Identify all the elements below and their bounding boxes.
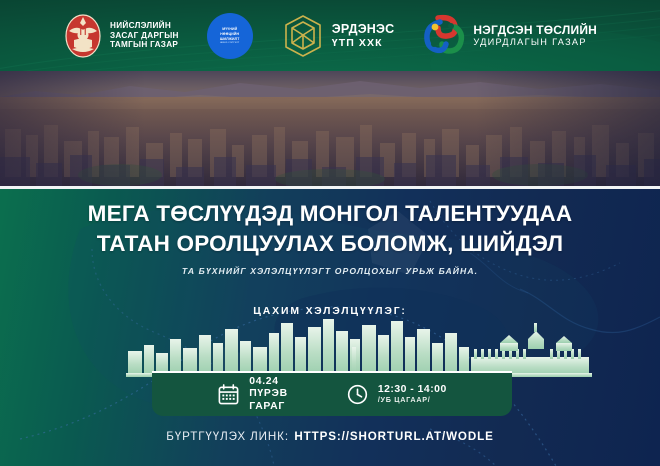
logo-erdenes-text: ЭРДЭНЭС ҮТП ХХК — [332, 22, 395, 49]
logo-unified-text: НЭГДСЭН ТӨСЛИЙН УДИРДЛАГЫН ГАЗАР — [473, 23, 597, 48]
blue-circle-badge-icon: МҮҮНИЙ НӨӨЦИЙН ШИЛЖИЛТ ШИНЭ СЭРГЭЛТ — [207, 13, 253, 59]
badge-sublabel: ШИНЭ СЭРГЭЛТ — [220, 42, 239, 44]
logo1-line2: ЗАСАГ ДАРГЫН — [110, 31, 179, 41]
logo4-line2: УДИРДЛАГЫН ГАЗАР — [473, 37, 597, 48]
badge-line1: МҮҮНИЙ — [222, 27, 237, 31]
title-line-1: МЕГА ТӨСЛҮҮДЭД МОНГОЛ ТАЛЕНТУУДАА — [0, 199, 660, 229]
event-time-text: 12:30 - 14:00 /УБ ЦАГААР/ — [378, 384, 447, 405]
logo3-line1: ЭРДЭНЭС — [332, 22, 395, 37]
logo-capital-city-governor: НИЙСЛЭЛИЙН ЗАСАГ ДАРГЫН ТАМГЫН ГАЗАР — [63, 13, 179, 59]
clock-icon — [346, 383, 369, 406]
unified-project-nodes-icon — [422, 14, 466, 58]
badge-line3: ШИЛЖИЛТ — [220, 37, 240, 41]
logo1-line3: ТАМГЫН ГАЗАР — [110, 40, 179, 50]
logo-unified-project-management: НЭГДСЭН ТӨСЛИЙН УДИРДЛАГЫН ГАЗАР — [422, 14, 597, 58]
logo1-line1: НИЙСЛЭЛИЙН — [110, 21, 179, 31]
calendar-icon — [217, 383, 240, 406]
logo4-line1: НЭГДСЭН ТӨСЛИЙН — [473, 23, 597, 37]
logo3-line2: ҮТП ХХК — [332, 37, 395, 49]
logo-row: НИЙСЛЭЛИЙН ЗАСАГ ДАРГЫН ТАМГЫН ГАЗАР МҮҮ… — [0, 0, 660, 71]
event-date-text: 04.24 ПҮРЭВ ГАРАГ — [249, 376, 288, 413]
event-date-number: 04.24 — [249, 376, 288, 388]
photo-vignette — [0, 71, 660, 188]
registration-link-row[interactable]: БҮРТГҮҮЛЭХ ЛИНК: HTTPS://SHORTURL.AT/WOD… — [0, 427, 660, 445]
event-info-bar: 04.24 ПҮРЭВ ГАРАГ 12:30 - 14:00 /УБ ЦАГА… — [152, 371, 512, 416]
title-line-2: ТАТАН ОРОЛЦУУЛАХ БОЛОМЖ, ШИЙДЭЛ — [0, 229, 660, 259]
logo-header-bar: НИЙСЛЭЛИЙН ЗАСАГ ДАРГЫН ТАМГЫН ГАЗАР МҮҮ… — [0, 0, 660, 71]
erdenes-crystal-icon — [281, 13, 325, 59]
logo-new-recovery-badge: МҮҮНИЙ НӨӨЦИЙН ШИЛЖИЛТ ШИНЭ СЭРГЭЛТ — [207, 13, 253, 59]
subtitle: ТА БҮХНИЙГ ХЭЛЭЛЦҮҮЛЭГТ ОРОЛЦОХЫГ УРЬЖ Б… — [0, 266, 660, 276]
mongolia-soyombo-emblem-icon — [63, 13, 103, 59]
event-time-zone: /УБ ЦАГААР/ — [378, 396, 447, 404]
ulaanbaatar-skyline-silhouette — [0, 317, 660, 377]
poster-root: НИЙСЛЭЛИЙН ЗАСАГ ДАРГЫН ТАМГЫН ГАЗАР МҮҮ… — [0, 0, 660, 466]
registration-link-label: БҮРТГҮҮЛЭХ ЛИНК: — [166, 430, 289, 443]
kicker-label: ЦАХИМ ХЭЛЭЛЦҮҮЛЭГ: — [0, 306, 660, 317]
registration-link-url[interactable]: HTTPS://SHORTURL.AT/WODLE — [294, 430, 493, 443]
cityscape-photo — [0, 71, 660, 188]
logo-capital-city-governor-text: НИЙСЛЭЛИЙН ЗАСАГ ДАРГЫН ТАМГЫН ГАЗАР — [110, 21, 179, 50]
event-day-line2: ГАРАГ — [249, 401, 288, 413]
event-time-item: 12:30 - 14:00 /УБ ЦАГААР/ — [346, 383, 447, 406]
title-block: МЕГА ТӨСЛҮҮДЭД МОНГОЛ ТАЛЕНТУУДАА ТАТАН … — [0, 199, 660, 276]
logo-erdenes-utp: ЭРДЭНЭС ҮТП ХХК — [281, 13, 395, 59]
event-date-item: 04.24 ПҮРЭВ ГАРАГ — [217, 376, 288, 413]
event-day-line1: ПҮРЭВ — [249, 388, 288, 400]
main-panel: МЕГА ТӨСЛҮҮДЭД МОНГОЛ ТАЛЕНТУУДАА ТАТАН … — [0, 189, 660, 466]
badge-line2: НӨӨЦИЙН — [220, 32, 239, 36]
